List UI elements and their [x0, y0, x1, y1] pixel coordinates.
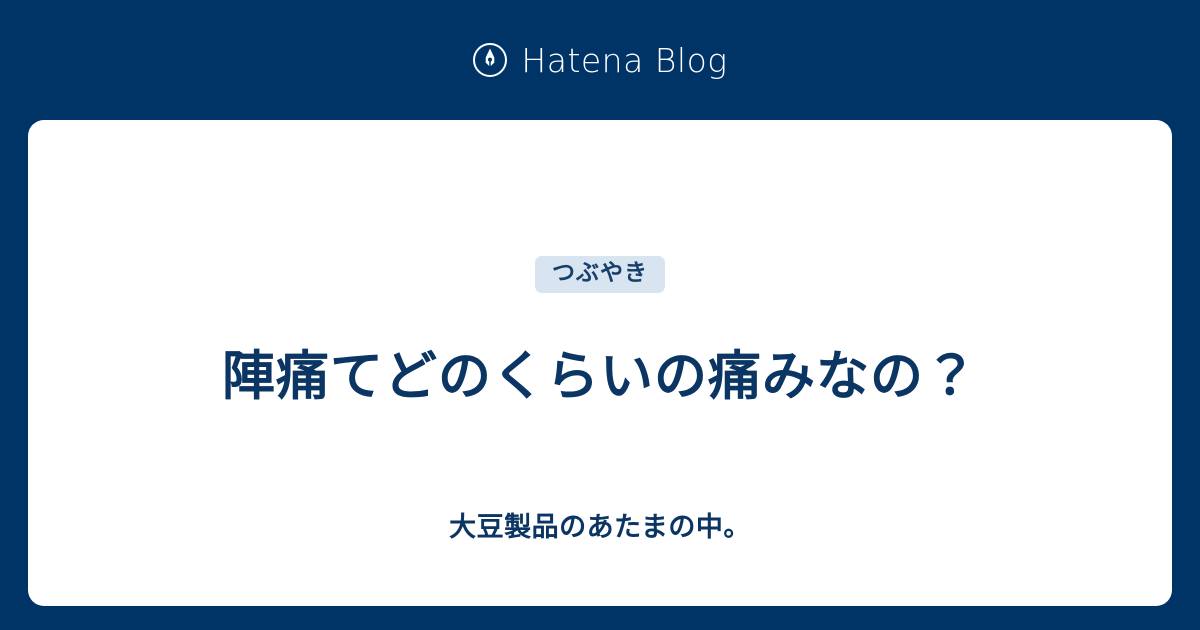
entry-title: 陣痛てどのくらいの痛みなの？	[28, 342, 1172, 412]
fountain-pen-nib-icon	[472, 42, 508, 78]
ogp-card-root: Hatena Blog つぶやき 陣痛てどのくらいの痛みなの？ 大豆製品のあたま…	[0, 0, 1200, 630]
category-tag[interactable]: つぶやき	[535, 256, 665, 293]
hatena-brand-bar: Hatena Blog	[0, 0, 1200, 120]
entry-card-inner: つぶやき 陣痛てどのくらいの痛みなの？ 大豆製品のあたまの中。	[28, 120, 1172, 606]
hatena-brand-name: Hatena Blog	[521, 44, 727, 77]
blog-title: 大豆製品のあたまの中。	[28, 510, 1172, 545]
entry-card: つぶやき 陣痛てどのくらいの痛みなの？ 大豆製品のあたまの中。	[28, 120, 1172, 606]
